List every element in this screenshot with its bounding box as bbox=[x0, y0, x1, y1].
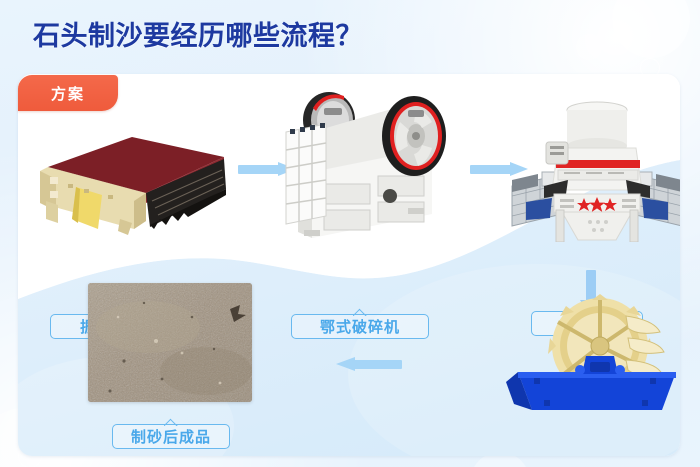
jaw-crusher-image bbox=[282, 88, 462, 240]
sand-making-machine-image bbox=[504, 94, 680, 242]
step-label-jaw-crusher: 鄂式破碎机 bbox=[291, 314, 429, 339]
label-notch bbox=[353, 308, 367, 316]
background-bubble bbox=[612, 0, 690, 58]
background-bubble bbox=[576, 34, 602, 60]
scheme-ribbon: 方案 bbox=[18, 75, 118, 111]
infographic-canvas: 石头制沙要经历哪些流程？ bbox=[0, 0, 700, 467]
step-label-finished-sand: 制砂后成品 bbox=[112, 424, 230, 449]
arrow-washer-to-product bbox=[336, 357, 406, 371]
vibrating-feeder-image bbox=[28, 129, 228, 239]
scheme-ribbon-label: 方案 bbox=[51, 83, 85, 104]
step-label-text: 制砂后成品 bbox=[131, 426, 211, 447]
step-label-text: 鄂式破碎机 bbox=[320, 316, 400, 337]
label-notch bbox=[164, 418, 178, 426]
sand-washing-machine-image bbox=[504, 286, 680, 414]
finished-sand-photo bbox=[88, 283, 252, 402]
page-title: 石头制沙要经历哪些流程？ bbox=[33, 14, 363, 53]
